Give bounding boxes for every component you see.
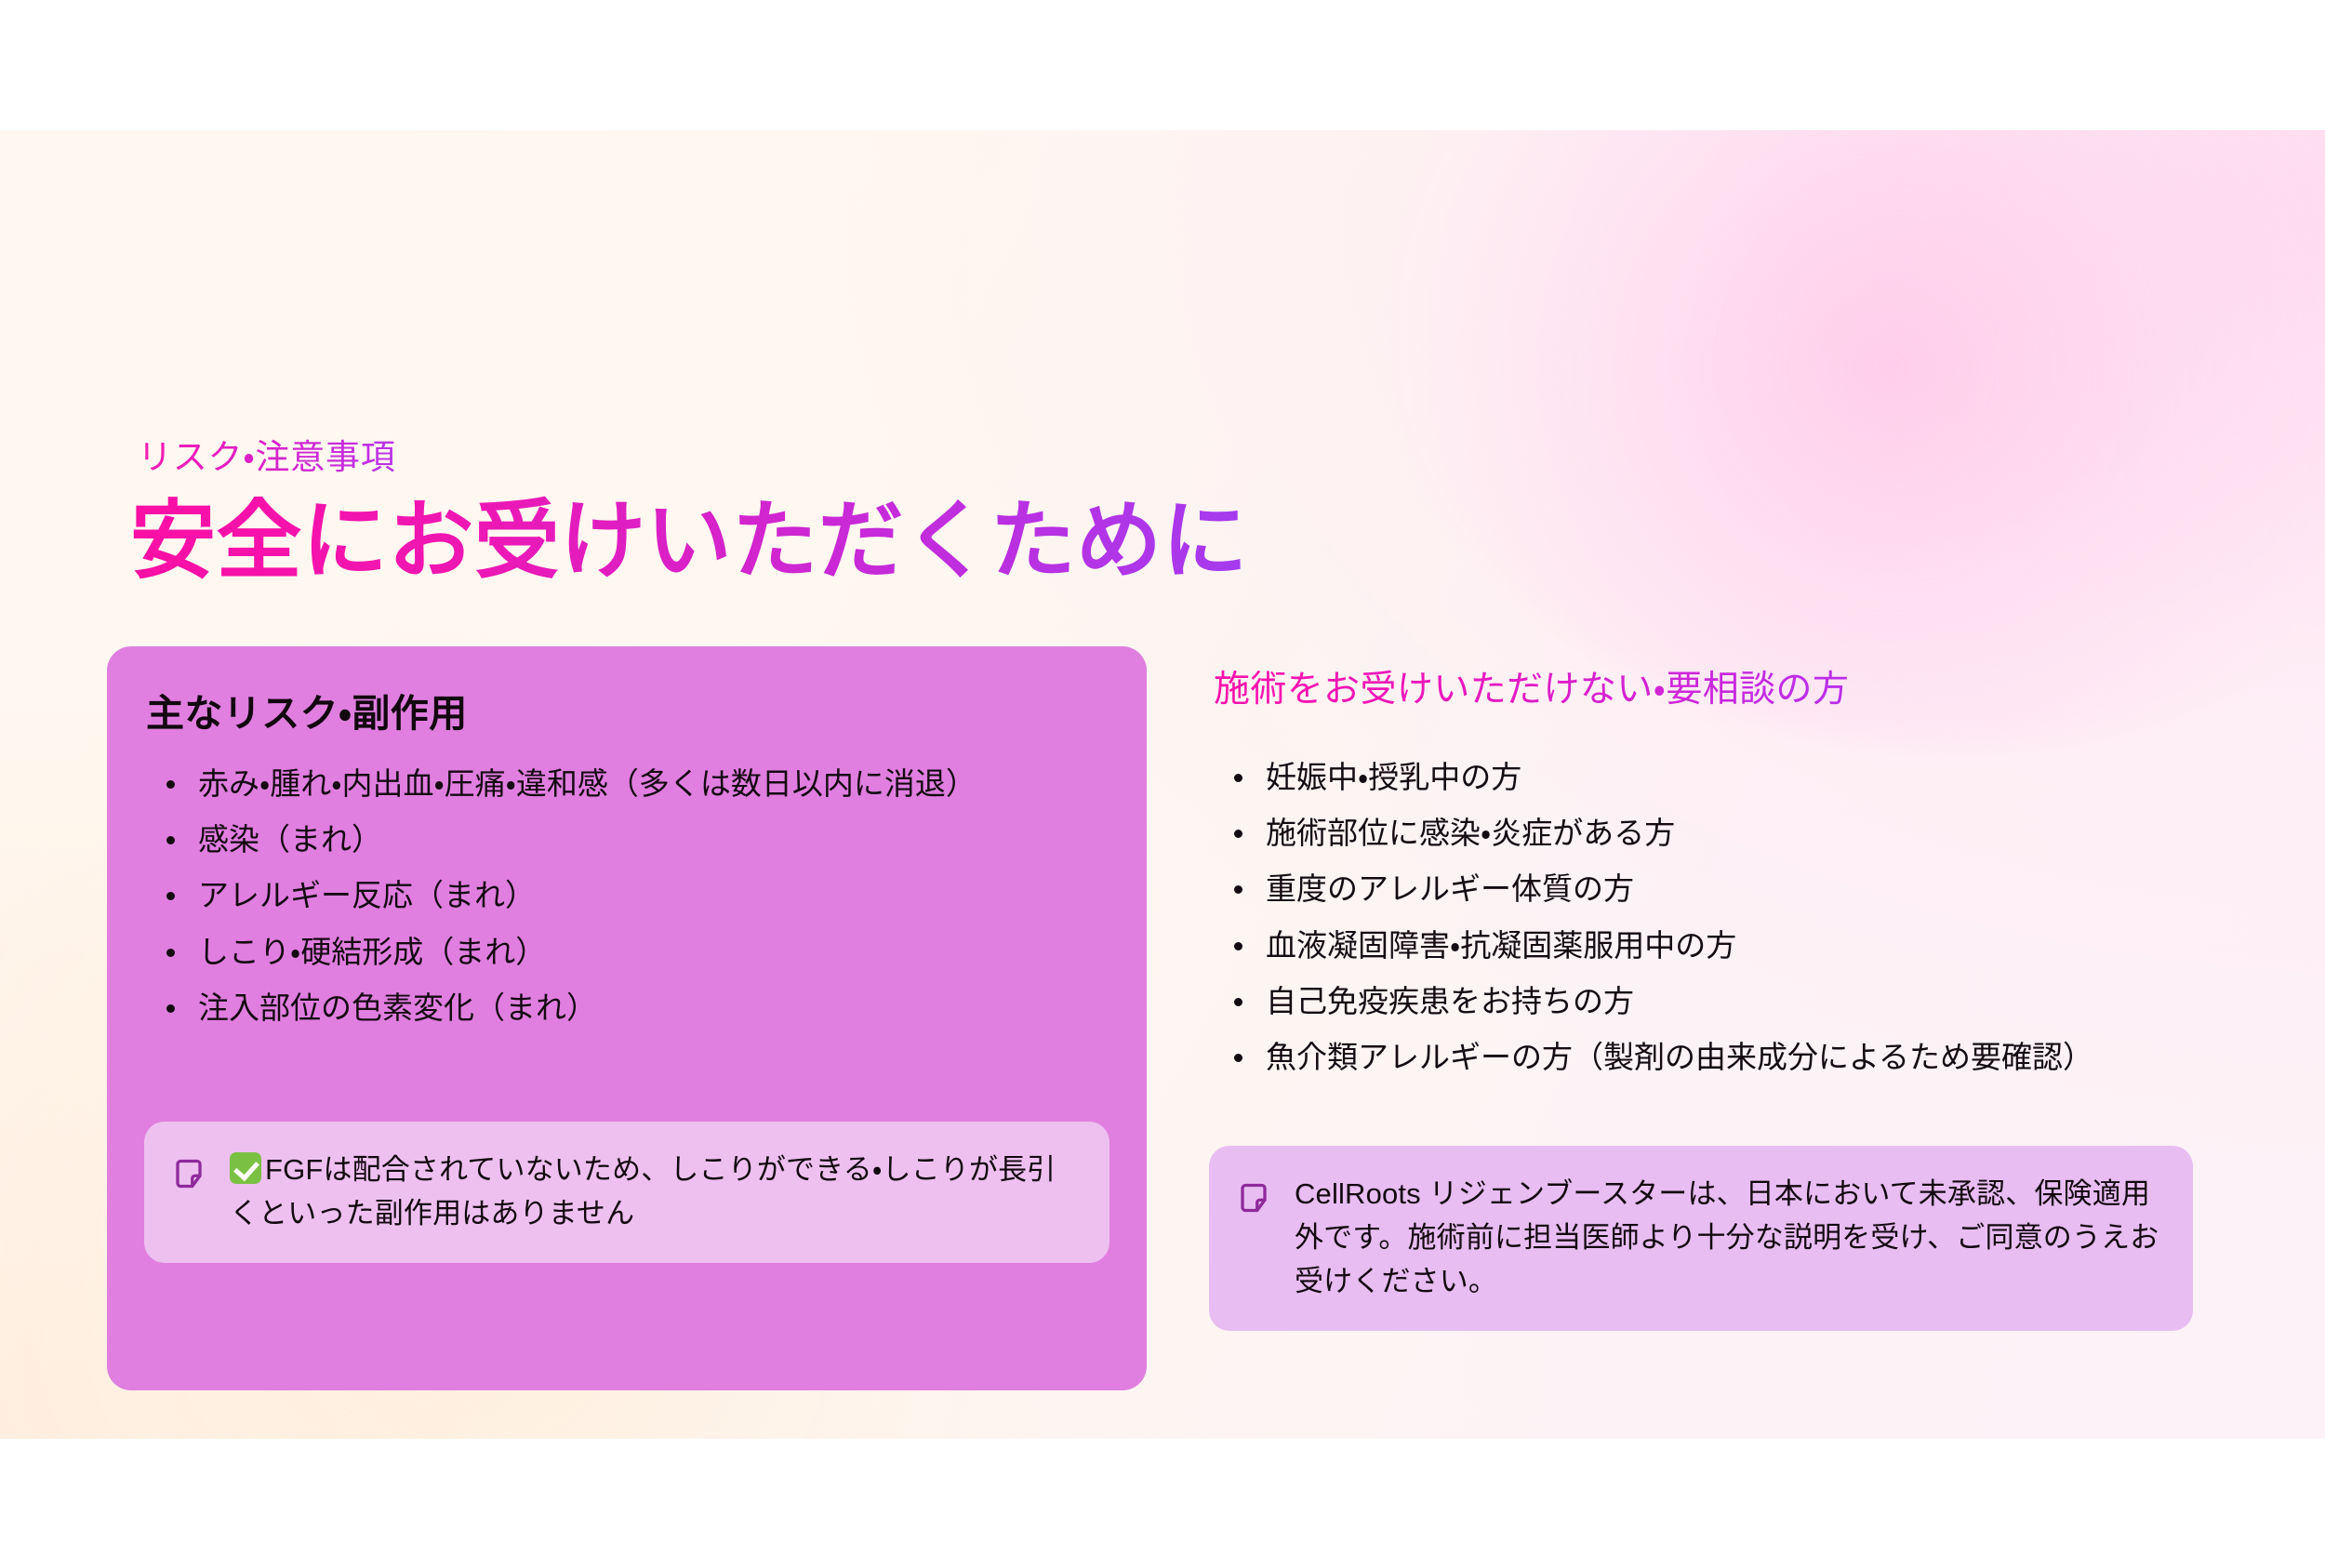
fgf-note-body: FGFは配合されていないため、しこりができる・しこりが長引くといった副作用はあり…	[230, 1153, 1056, 1229]
exclusions-heading: 施術をお受けいただけない・要相談の方	[1214, 668, 1849, 713]
section-eyebrow: リスク・注意事項	[138, 437, 396, 478]
slide-content: リスク・注意事項 安全にお受けいただくために 主なリスク・副作用 赤み・腫れ・内…	[0, 130, 2325, 1439]
list-item: 血液凝固障害・抗凝固薬服用中の方	[1214, 924, 2227, 968]
slide-stage: リスク・注意事項 安全にお受けいただくために 主なリスク・副作用 赤み・腫れ・内…	[0, 0, 2325, 1568]
main-risks-heading: 主なリスク・副作用	[146, 682, 1108, 737]
list-item: アレルギー反応（まれ）	[146, 873, 1108, 918]
slide-canvas: リスク・注意事項 安全にお受けいただくために 主なリスク・副作用 赤み・腫れ・内…	[0, 130, 2325, 1439]
list-item: 赤み・腫れ・内出血・圧痛・違和感（多くは数日以内に消退）	[146, 762, 1108, 806]
note-icon	[172, 1157, 206, 1195]
list-item: 注入部位の色素変化（まれ）	[146, 986, 1108, 1030]
list-item: 重度のアレルギー体質の方	[1214, 867, 2227, 911]
main-risks-card: 主なリスク・副作用 赤み・腫れ・内出血・圧痛・違和感（多くは数日以内に消退） 感…	[107, 646, 1147, 1390]
main-risks-list: 赤み・腫れ・内出血・圧痛・違和感（多くは数日以内に消退） 感染（まれ） アレルギ…	[146, 762, 1108, 1030]
list-item: しこり・硬結形成（まれ）	[146, 930, 1108, 975]
fgf-note-callout: FGFは配合されていないため、しこりができる・しこりが長引くといった副作用はあり…	[144, 1122, 1109, 1263]
list-item: 魚介類アレルギーの方（製剤の由来成分によるため要確認）	[1214, 1035, 2227, 1080]
list-item: 妊娠中・授乳中の方	[1214, 755, 2227, 800]
list-item: 自己免疫疾患をお持ちの方	[1214, 979, 2227, 1024]
regulatory-note-callout: CellRoots リジェンブースターは、日本において未承認、保険適用外です。施…	[1209, 1146, 2193, 1331]
exclusions-list: 妊娠中・授乳中の方 施術部位に感染・炎症がある方 重度のアレルギー体質の方 血液…	[1214, 755, 2227, 1091]
list-item: 施術部位に感染・炎症がある方	[1214, 811, 2227, 856]
page-title: 安全にお受けいただくために	[130, 491, 1248, 592]
list-item: 感染（まれ）	[146, 817, 1108, 862]
fgf-note-text: FGFは配合されていないため、しこりができる・しこりが長引くといった副作用はあり…	[230, 1148, 1078, 1235]
check-mark-emoji	[230, 1152, 261, 1184]
note-icon	[1237, 1181, 1270, 1219]
regulatory-note-text: CellRoots リジェンブースターは、日本において未承認、保険適用外です。施…	[1295, 1172, 2161, 1303]
